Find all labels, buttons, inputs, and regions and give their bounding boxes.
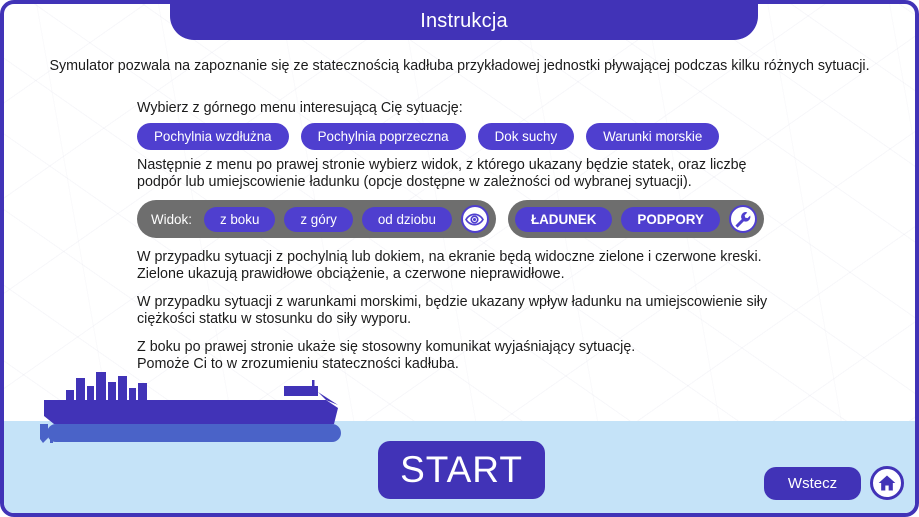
situation-button-dok-suchy[interactable]: Dok suchy [478,123,575,150]
load-button-ladunek[interactable]: ŁADUNEK [515,207,612,232]
view-button-od-dziobu[interactable]: od dziobu [362,207,452,232]
view-toolbar-label: Widok: [144,212,195,227]
paragraph-3-line-2: Pomoże Ci to w zrozumieniu stateczności … [137,356,837,373]
situation-button-warunki-morskie[interactable]: Warunki morskie [586,123,719,150]
paragraph-slipway-dock: W przypadku sytuacji z pochylnią lub dok… [137,249,837,283]
ship-illustration [26,372,356,447]
back-button[interactable]: Wstecz [764,467,861,500]
paragraph-1-line-1: W przypadku sytuacji z pochylnią lub dok… [137,249,837,266]
situation-button-pochylnia-wzdluzna[interactable]: Pochylnia wzdłużna [137,123,289,150]
start-button[interactable]: START [378,441,545,499]
load-button-podpory[interactable]: PODPORY [621,207,719,232]
right-menu-instruction-line-2: podpór lub umiejscowienie ładunku (opcje… [137,174,837,191]
wrench-icon[interactable] [729,205,757,233]
situation-buttons-row: Pochylnia wzdłużna Pochylnia poprzeczna … [137,123,837,150]
toolbars-row: Widok: z boku z góry od dziobu ŁADUNEK P… [137,200,837,238]
right-menu-instruction-line-1: Następnie z menu po prawej stronie wybie… [137,157,837,174]
instruction-screen: Instrukcja Symulator pozwala na zapoznan… [0,0,919,517]
paragraph-3-line-1: Z boku po prawej stronie ukaże się stoso… [137,339,837,356]
load-toolbar: ŁADUNEK PODPORY [508,200,764,238]
view-toolbar: Widok: z boku z góry od dziobu [137,200,496,238]
choose-situation-label: Wybierz z górnego menu interesującą Cię … [137,100,837,117]
situation-button-pochylnia-poprzeczna[interactable]: Pochylnia poprzeczna [301,123,466,150]
view-button-z-boku[interactable]: z boku [204,207,275,232]
paragraph-2-line-2: ciężkości statku w stosunku do siły wypo… [137,311,837,328]
instruction-content: Wybierz z górnego menu interesującą Cię … [137,100,837,373]
paragraph-side-message: Z boku po prawej stronie ukaże się stoso… [137,339,837,373]
view-button-z-gory[interactable]: z góry [284,207,352,232]
intro-text: Symulator pozwala na zapoznanie się ze s… [4,58,915,74]
home-icon[interactable] [870,466,904,500]
eye-icon[interactable] [461,205,489,233]
header-tab: Instrukcja [170,2,758,40]
paragraph-2-line-1: W przypadku sytuacji z warunkami morskim… [137,294,837,311]
paragraph-1-line-2: Zielone ukazują prawidłowe obciążenie, a… [137,266,837,283]
paragraph-sea-conditions: W przypadku sytuacji z warunkami morskim… [137,294,837,328]
page-title: Instrukcja [420,10,508,33]
